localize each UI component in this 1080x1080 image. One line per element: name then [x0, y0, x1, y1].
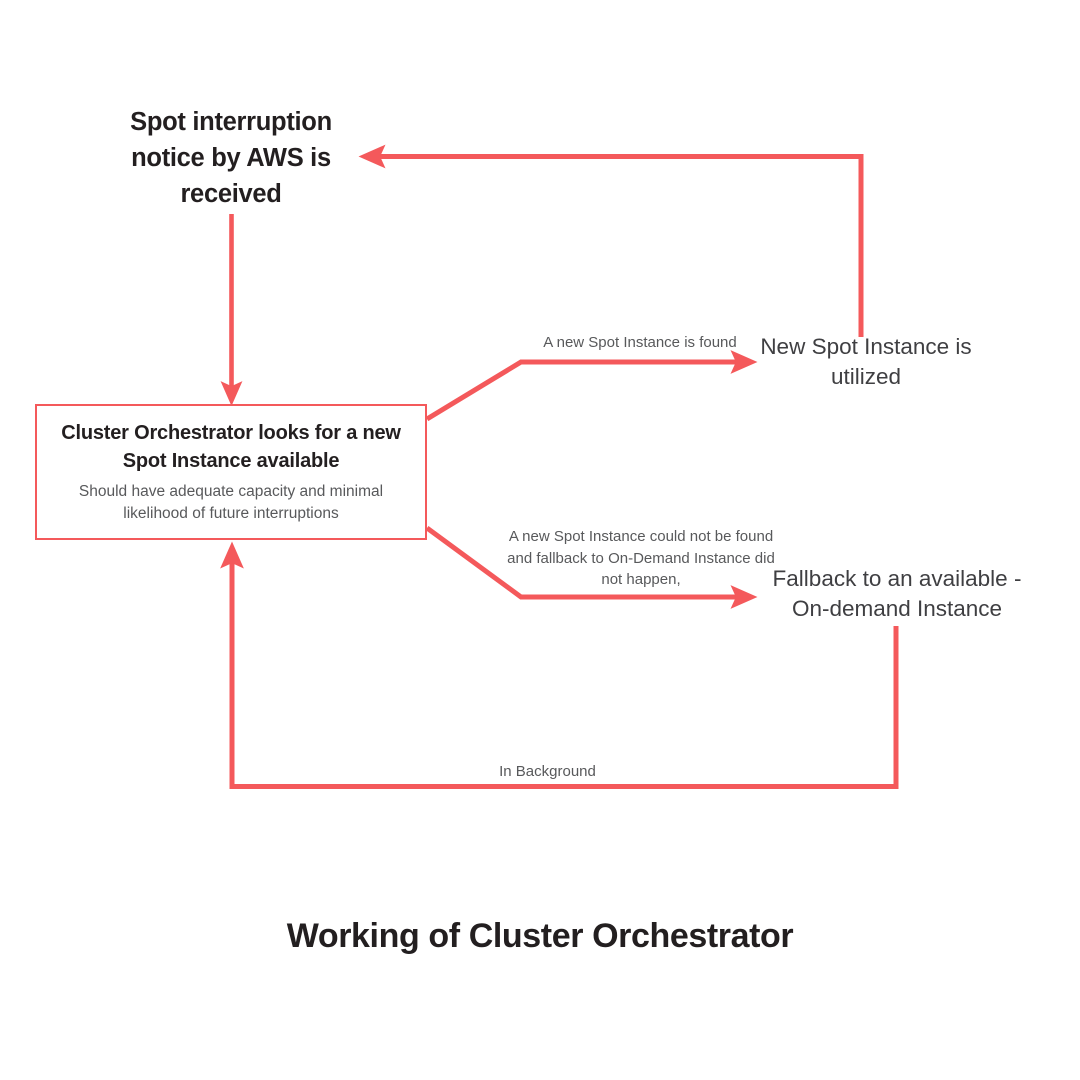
edge-label-spot-instance-not-found: A new Spot Instance could not be found a…: [500, 526, 782, 591]
node-new-spot-instance-utilized: New Spot Instance is utilized: [742, 332, 990, 392]
edge-new-spot-to-notice: [365, 157, 861, 338]
node-spot-interruption-notice: Spot interruption notice by AWS is recei…: [96, 104, 366, 212]
diagram-caption: Working of Cluster Orchestrator: [0, 917, 1080, 956]
node-cluster-orchestrator-title: Cluster Orchestrator looks for a new Spo…: [47, 419, 415, 475]
diagram-canvas: Spot interruption notice by AWS is recei…: [0, 0, 1080, 1080]
edge-orchestrator-to-new-spot: [427, 362, 751, 419]
node-cluster-orchestrator: Cluster Orchestrator looks for a new Spo…: [35, 404, 427, 540]
edge-label-spot-instance-found: A new Spot Instance is found: [508, 332, 772, 354]
edge-label-in-background: In Background: [460, 761, 635, 783]
node-fallback-on-demand-instance: Fallback to an available -On-demand Inst…: [762, 564, 1032, 624]
node-cluster-orchestrator-subtitle: Should have adequate capacity and minima…: [47, 481, 415, 525]
